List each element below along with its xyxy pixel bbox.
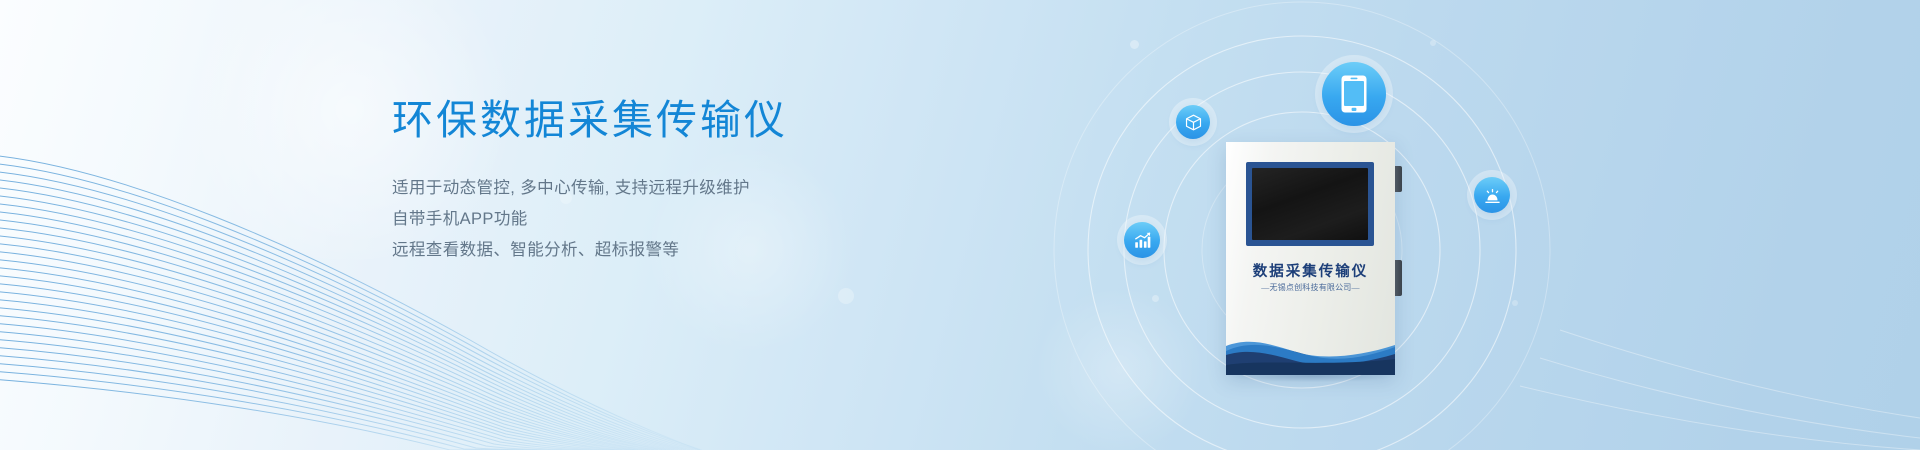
banner-copy: 环保数据采集传输仪 适用于动态管控, 多中心传输, 支持远程升级维护 自带手机A… <box>392 96 1032 266</box>
device-panel-title: 数据采集传输仪 <box>1226 260 1395 281</box>
decorative-dot <box>1430 40 1436 46</box>
alarm-siren-icon[interactable] <box>1474 177 1510 213</box>
smartphone-icon[interactable] <box>1322 62 1386 126</box>
package-box-icon[interactable] <box>1176 105 1210 139</box>
data-logger-device: 数据采集传输仪 —无锡点创科技有限公司— <box>1220 142 1395 375</box>
product-banner: 环保数据采集传输仪 适用于动态管控, 多中心传输, 支持远程升级维护 自带手机A… <box>0 0 1920 450</box>
background-glow-lower <box>1030 290 1210 450</box>
page-title: 环保数据采集传输仪 <box>392 96 1032 145</box>
device-wave-graphic <box>1226 317 1395 375</box>
device-screen <box>1252 168 1368 240</box>
subtitle-line-3: 远程查看数据、智能分析、超标报警等 <box>392 235 1032 266</box>
device-body: 数据采集传输仪 —无锡点创科技有限公司— <box>1226 142 1395 375</box>
device-screen-bezel <box>1246 162 1374 246</box>
decorative-dot <box>1152 295 1159 302</box>
decorative-dot <box>1130 40 1139 49</box>
bar-chart-growth-icon[interactable] <box>1124 222 1160 258</box>
subtitle-line-1: 适用于动态管控, 多中心传输, 支持远程升级维护 <box>392 173 1032 204</box>
subtitle-line-2: 自带手机APP功能 <box>392 204 1032 235</box>
decorative-dot <box>1512 300 1518 306</box>
decorative-dot <box>838 288 854 304</box>
banner-subtitle: 适用于动态管控, 多中心传输, 支持远程升级维护 自带手机APP功能 远程查看数… <box>392 173 1032 266</box>
device-panel-subtitle: —无锡点创科技有限公司— <box>1226 282 1395 293</box>
